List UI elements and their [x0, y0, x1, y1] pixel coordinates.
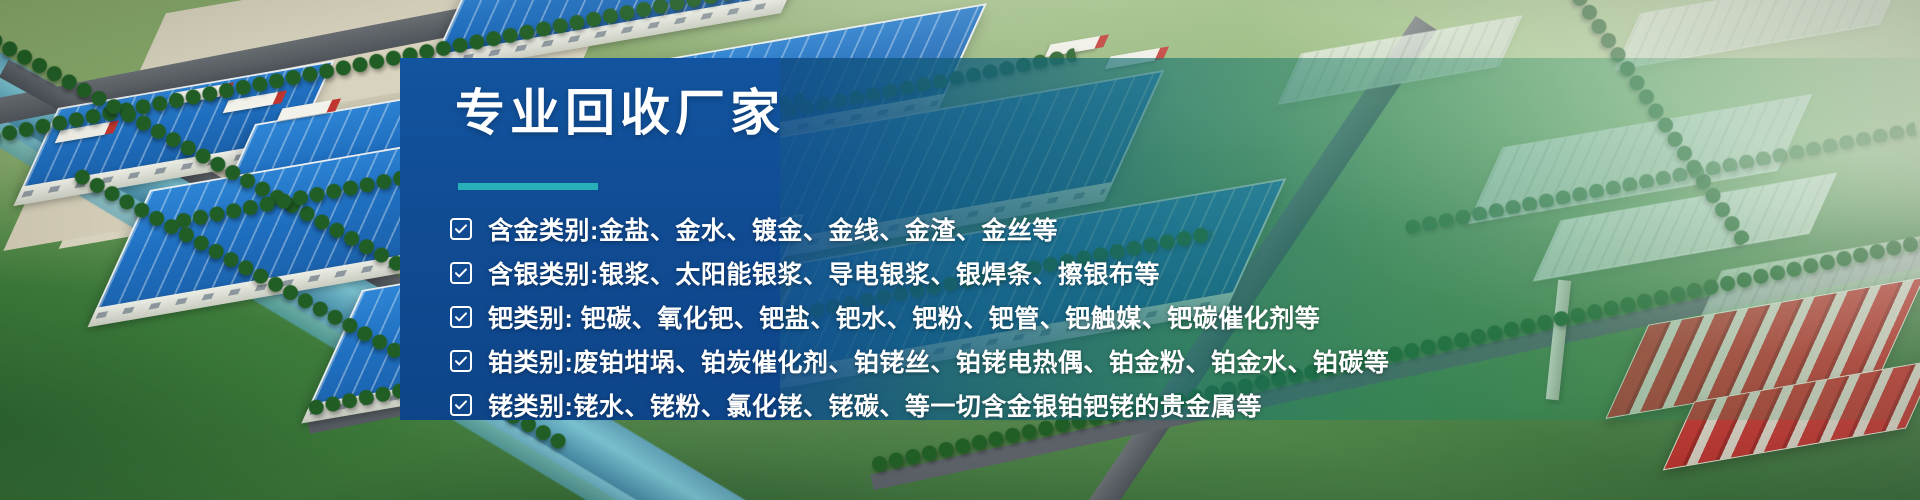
- list-item[interactable]: 铂类别:废铂坩埚、铂炭催化剂、铂铑丝、铂铑电热偶、铂金粉、铂金水、铂碳等: [450, 340, 1810, 382]
- checkbox-checked-icon: [450, 394, 472, 416]
- banner-content: 专业回收厂家 含金类别:金盐、金水、镀金、金线、金渣、金丝等 含银类别:银浆、太…: [400, 58, 1920, 420]
- list-item[interactable]: 含金类别:金盐、金水、镀金、金线、金渣、金丝等: [450, 208, 1810, 250]
- list-item[interactable]: 含银类别:银浆、太阳能银浆、导电银浆、银焊条、擦银布等: [450, 252, 1810, 294]
- list-item-label: 钯类别: 钯碳、氧化钯、钯盐、钯水、钯粉、钯管、钯触媒、钯碳催化剂等: [488, 299, 1320, 335]
- category-list: 含金类别:金盐、金水、镀金、金线、金渣、金丝等 含银类别:银浆、太阳能银浆、导电…: [450, 208, 1810, 428]
- title-divider: [458, 183, 598, 190]
- list-item-label: 含金类别:金盐、金水、镀金、金线、金渣、金丝等: [488, 211, 1058, 247]
- list-item[interactable]: 钯类别: 钯碳、氧化钯、钯盐、钯水、钯粉、钯管、钯触媒、钯碳催化剂等: [450, 296, 1810, 338]
- checkbox-checked-icon: [450, 306, 472, 328]
- list-item-label: 铑类别:铑水、铑粉、氯化铑、铑碳、等一切含金银铂钯铑的贵金属等: [488, 387, 1262, 423]
- checkbox-checked-icon: [450, 218, 472, 240]
- list-item-label: 铂类别:废铂坩埚、铂炭催化剂、铂铑丝、铂铑电热偶、铂金粉、铂金水、铂碳等: [488, 343, 1389, 379]
- list-item[interactable]: 铑类别:铑水、铑粉、氯化铑、铑碳、等一切含金银铂钯铑的贵金属等: [450, 384, 1810, 426]
- page-title: 专业回收厂家: [455, 86, 785, 141]
- list-item-label: 含银类别:银浆、太阳能银浆、导电银浆、银焊条、擦银布等: [488, 255, 1160, 291]
- checkbox-checked-icon: [450, 262, 472, 284]
- checkbox-checked-icon: [450, 350, 472, 372]
- banner-stage: 专业回收厂家 含金类别:金盐、金水、镀金、金线、金渣、金丝等 含银类别:银浆、太…: [0, 0, 1920, 500]
